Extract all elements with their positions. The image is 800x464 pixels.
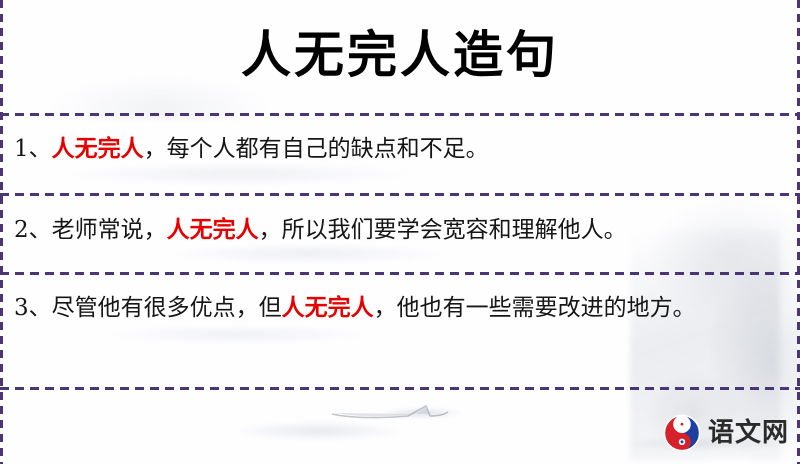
- keyword-2: 人无完人: [167, 216, 259, 243]
- page-title: 人无完人造句: [0, 24, 800, 86]
- sentence-body-2b: ，所以我们要学会宽容和理解他人。: [259, 217, 627, 243]
- site-logo-text: 语文网: [708, 414, 789, 452]
- sentence-item-2: 2、老师常说，人无完人，所以我们要学会宽容和理解他人。: [14, 209, 794, 251]
- sentence-item-1: 1、人无完人，每个人都有自己的缺点和不足。: [14, 128, 794, 170]
- sentence-index-1: 1、: [14, 136, 52, 162]
- keyword-1: 人无完人: [52, 135, 144, 162]
- sentence-body-3b: ，他也有一些需要改进的地方。: [374, 295, 696, 321]
- watermark-boat-icon: [330, 400, 450, 422]
- watermark-water: [150, 398, 550, 458]
- divider-2: [0, 272, 800, 275]
- sentence-index-3: 3、: [14, 295, 52, 321]
- sentence-index-2: 2、: [14, 217, 52, 243]
- sentence-body-2a: 老师常说，: [52, 217, 167, 243]
- divider-top: [0, 113, 800, 116]
- yinyang-circle-icon: [663, 414, 701, 452]
- sentence-body-3a: 尽管他有很多优点，但: [52, 295, 282, 321]
- divider-bottom: [0, 387, 800, 390]
- site-logo[interactable]: 语文网: [663, 410, 795, 456]
- sentence-body-1: ，每个人都有自己的缺点和不足。: [144, 136, 489, 162]
- sentence-item-3: 3、尽管他有很多优点，但人无完人，他也有一些需要改进的地方。: [14, 287, 794, 329]
- divider-1: [0, 193, 800, 196]
- keyword-3: 人无完人: [282, 294, 374, 321]
- page-root: 人无完人造句 1、人无完人，每个人都有自己的缺点和不足。 2、老师常说，人无完人…: [0, 0, 800, 464]
